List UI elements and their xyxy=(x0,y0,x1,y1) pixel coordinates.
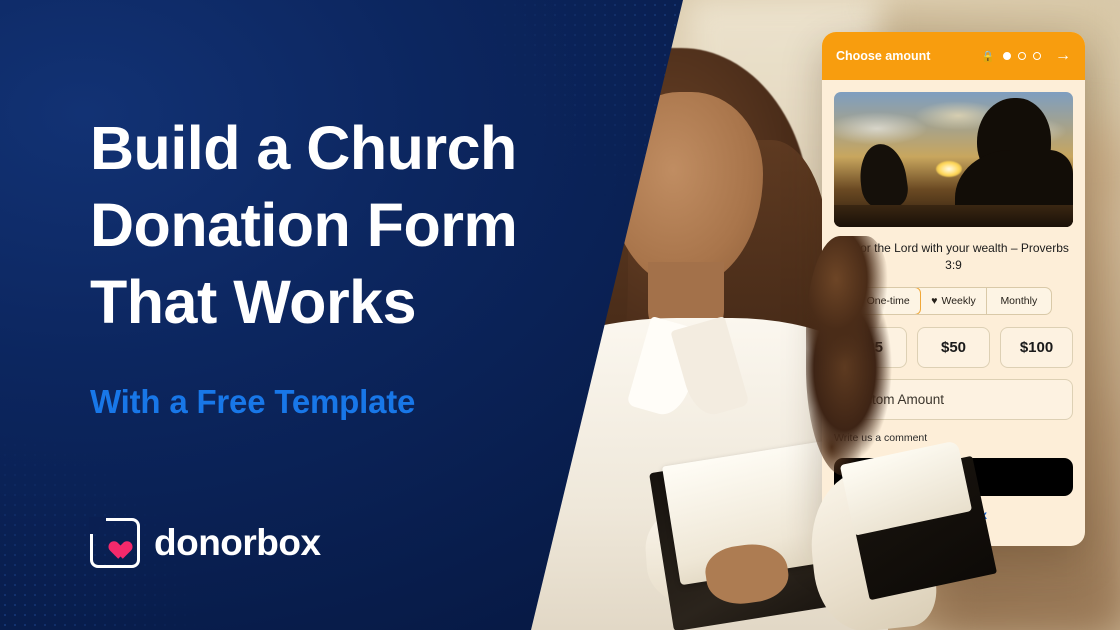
lock-icon: 🔒 xyxy=(981,50,995,63)
donorbox-wordmark: donorbox xyxy=(154,522,321,564)
frequency-tab-monthly-label: Monthly xyxy=(1000,295,1037,307)
form-header: Choose amount 🔒 → xyxy=(822,32,1085,80)
heart-icon-weekly: ♥ xyxy=(931,295,937,307)
step-dot-2 xyxy=(1018,52,1026,60)
step-dot-3 xyxy=(1033,52,1041,60)
arrow-right-icon[interactable]: → xyxy=(1055,48,1071,64)
frequency-tab-weekly-label: Weekly xyxy=(941,295,975,307)
horizon-ground xyxy=(834,205,1073,227)
form-hero-image xyxy=(834,92,1073,227)
step-dot-1 xyxy=(1003,52,1011,60)
donorbox-logo: donorbox xyxy=(90,518,321,568)
heart-icon xyxy=(105,534,126,553)
page-subtitle: With a Free Template xyxy=(90,383,610,421)
form-step-title: Choose amount xyxy=(836,49,973,63)
headline-line-2: Donation Form xyxy=(90,187,610,264)
frequency-tab-weekly[interactable]: ♥ Weekly xyxy=(921,288,986,314)
amount-button-100[interactable]: $100 xyxy=(1000,327,1073,368)
hair-foreground-overlay xyxy=(806,236,892,476)
hero-text-block: Build a Church Donation Form That Works … xyxy=(90,110,610,421)
donorbox-box-icon xyxy=(90,518,140,568)
sun xyxy=(936,161,962,177)
amount-button-50[interactable]: $50 xyxy=(917,327,990,368)
step-indicator xyxy=(1003,52,1041,60)
headline-line-3: That Works xyxy=(90,264,610,341)
headline-line-1: Build a Church xyxy=(90,110,610,187)
frequency-tab-monthly[interactable]: Monthly xyxy=(987,288,1051,314)
page-title: Build a Church Donation Form That Works xyxy=(90,110,610,341)
